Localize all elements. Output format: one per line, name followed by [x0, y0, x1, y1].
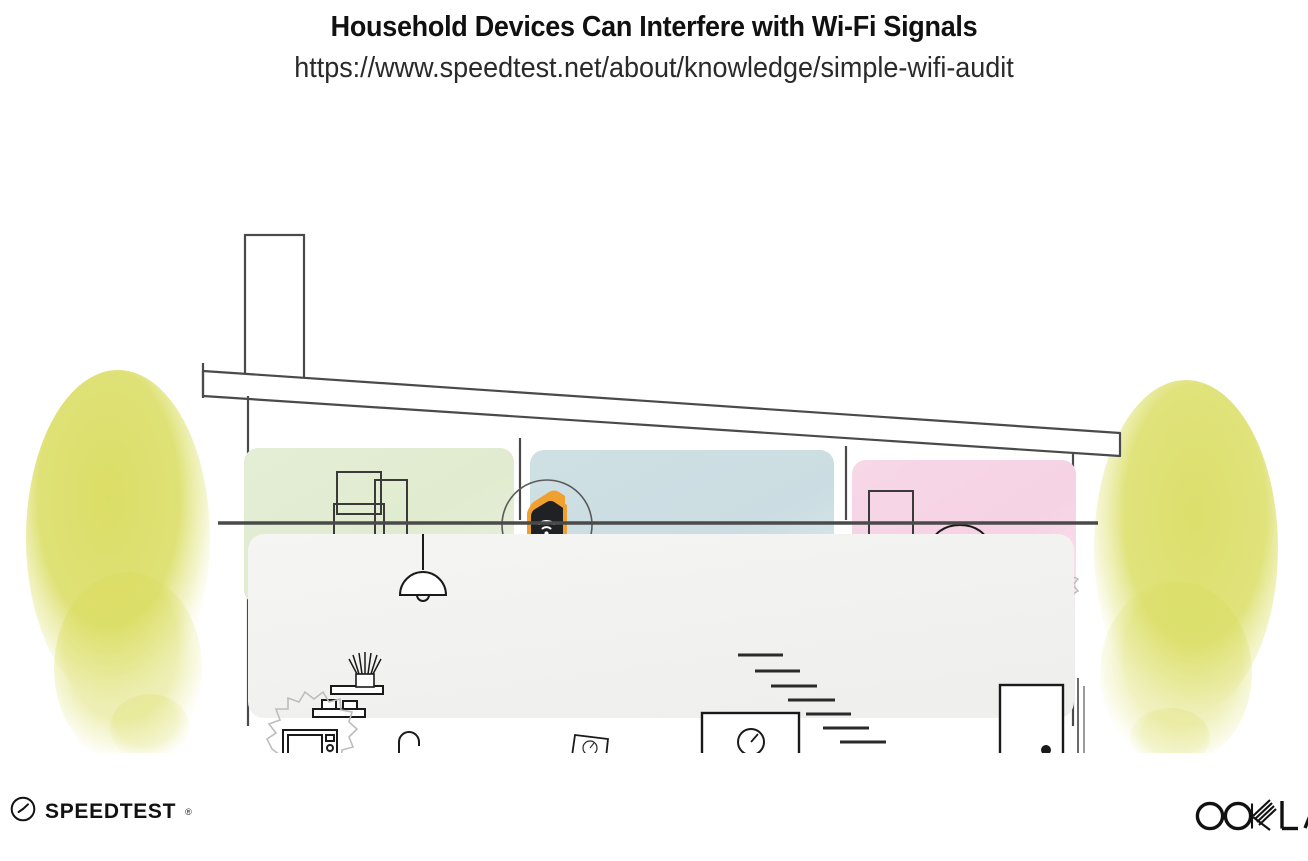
sink-faucet — [399, 732, 419, 753]
footer: SPEEDTEST ® — [0, 780, 1308, 850]
door — [1000, 685, 1063, 753]
chimney — [245, 235, 304, 380]
room-downstairs: SPEEDTEST — [248, 534, 1084, 753]
microwave — [283, 730, 337, 753]
roof — [203, 363, 1120, 456]
foliage-right — [1094, 380, 1278, 753]
foliage-left — [26, 370, 210, 753]
source-url: https://www.speedtest.net/about/knowledg… — [46, 51, 1262, 86]
speedtest-wordmark: SPEEDTEST — [45, 800, 176, 824]
house-illustration: SPEEDTEST — [0, 108, 1308, 753]
page-title: Household Devices Can Interfere with Wi-… — [46, 10, 1262, 45]
television — [702, 713, 799, 753]
laptop — [565, 735, 611, 753]
speedtest-gauge-icon — [10, 796, 36, 827]
infographic-page: Household Devices Can Interfere with Wi-… — [0, 0, 1308, 861]
speedtest-trademark: ® — [185, 807, 192, 817]
ookla-logo: ® — [1190, 794, 1308, 843]
speedtest-logo: SPEEDTEST ® — [10, 796, 192, 827]
header: Household Devices Can Interfere with Wi-… — [0, 0, 1308, 86]
